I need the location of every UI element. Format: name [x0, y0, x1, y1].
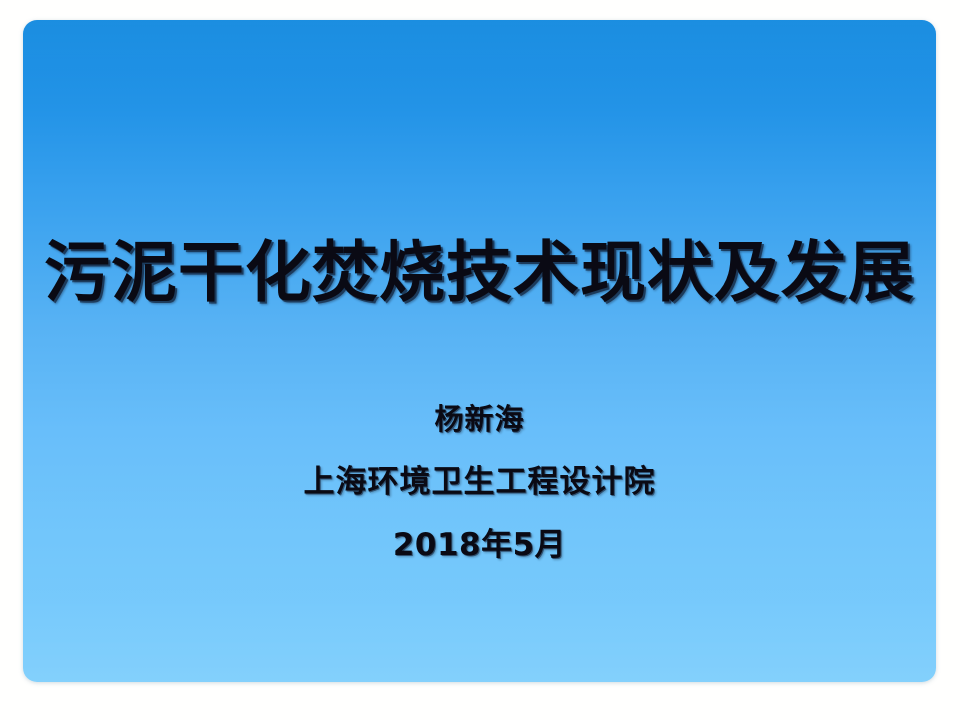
slide-subtitle-container: 杨新海 上海环境卫生工程设计院 2018年5月: [23, 405, 936, 561]
author-name: 杨新海: [23, 405, 936, 434]
presentation-date: 2018年5月: [23, 530, 936, 561]
presentation-slide: 污泥干化焚烧技术现状及发展 杨新海 上海环境卫生工程设计院 2018年5月: [23, 20, 936, 682]
slide-page-canvas: 污泥干化焚烧技术现状及发展 杨新海 上海环境卫生工程设计院 2018年5月: [0, 0, 960, 720]
slide-title-container: 污泥干化焚烧技术现状及发展: [23, 238, 936, 308]
page-title: 污泥干化焚烧技术现状及发展: [44, 238, 915, 308]
organization-name: 上海环境卫生工程设计院: [23, 467, 936, 498]
